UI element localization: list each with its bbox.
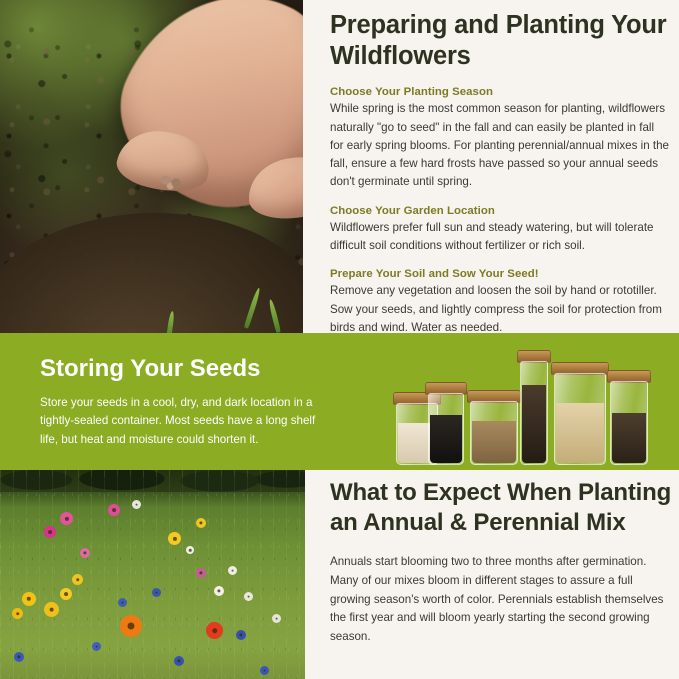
flower-pink-cosmos [60,512,73,525]
flower-red-poppy [206,622,223,639]
body-prepare-soil: Remove any vegetation and loosen the soi… [330,282,670,337]
flower-yellow-daisy [168,532,181,545]
flower-yellow-daisy [196,518,206,528]
flower-white-daisy [272,614,281,623]
flower-blue-cornflower [92,642,101,651]
jar-contents [612,413,646,463]
jar-black-seeds [428,393,464,465]
flower-blue-cornflower [260,666,269,675]
body-planting-season: While spring is the most common season f… [330,100,670,192]
flower-blue-cornflower [118,598,127,607]
flower-pink-cosmos [44,526,56,538]
flower-yellow-daisy [44,602,59,617]
flower-orange-poppy [120,615,142,637]
subheading-garden-location: Choose Your Garden Location [330,205,670,217]
flower-white-daisy [186,546,194,554]
flower-yellow-daisy [22,592,36,606]
jar-contents [430,415,462,463]
grass-texture [0,470,305,679]
seed-jars-photo [392,347,650,465]
flower-blue-cornflower [174,656,184,666]
subheading-planting-season: Choose Your Planting Season [330,86,670,98]
flower-pink-cosmos [108,504,120,516]
flower-yellow-daisy [12,608,23,619]
flower-pink-cosmos [80,548,90,558]
soil-planting-photo [0,0,303,333]
infographic-page: Preparing and Planting Your Wildflowers … [0,0,679,679]
seeds-in-hand [155,172,189,192]
section2-body: Store your seeds in a cool, dry, and dar… [40,394,330,450]
jar-mixed-seeds [610,381,648,465]
flower-yellow-daisy [72,574,83,585]
flower-blue-cornflower [236,630,246,640]
section3-heading: What to Expect When Planting an Annual &… [330,478,672,538]
jar-brown-grain [470,401,518,465]
jar-contents [556,403,604,463]
flower-white-daisy [214,586,224,596]
flower-white-daisy [132,500,141,509]
jar-contents [522,385,546,463]
flower-white-daisy [228,566,237,575]
flower-yellow-daisy [60,588,72,600]
page-title: Preparing and Planting Your Wildflowers [330,10,670,72]
subheading-prepare-soil: Prepare Your Soil and Sow Your Seed! [330,268,670,280]
section2-heading: Storing Your Seeds [40,355,330,383]
section3-text-column: What to Expect When Planting an Annual &… [330,478,672,647]
flower-white-daisy [244,592,253,601]
jar-tall-dark-seeds [520,361,548,465]
jar-contents [472,421,516,463]
wildflower-meadow-photo [0,470,305,679]
storing-seeds-section: Storing Your Seeds Store your seeds in a… [0,333,679,470]
body-garden-location: Wildflowers prefer full sun and steady w… [330,219,670,256]
flower-blue-cornflower [152,588,161,597]
section1-text-column: Preparing and Planting Your Wildflowers … [330,10,670,337]
flower-pink-cosmos [196,568,206,578]
section3-body: Annuals start blooming two to three mont… [330,553,672,647]
jar-oat-flakes [554,373,606,465]
section2-text-column: Storing Your Seeds Store your seeds in a… [40,355,330,450]
flower-blue-cornflower [14,652,24,662]
